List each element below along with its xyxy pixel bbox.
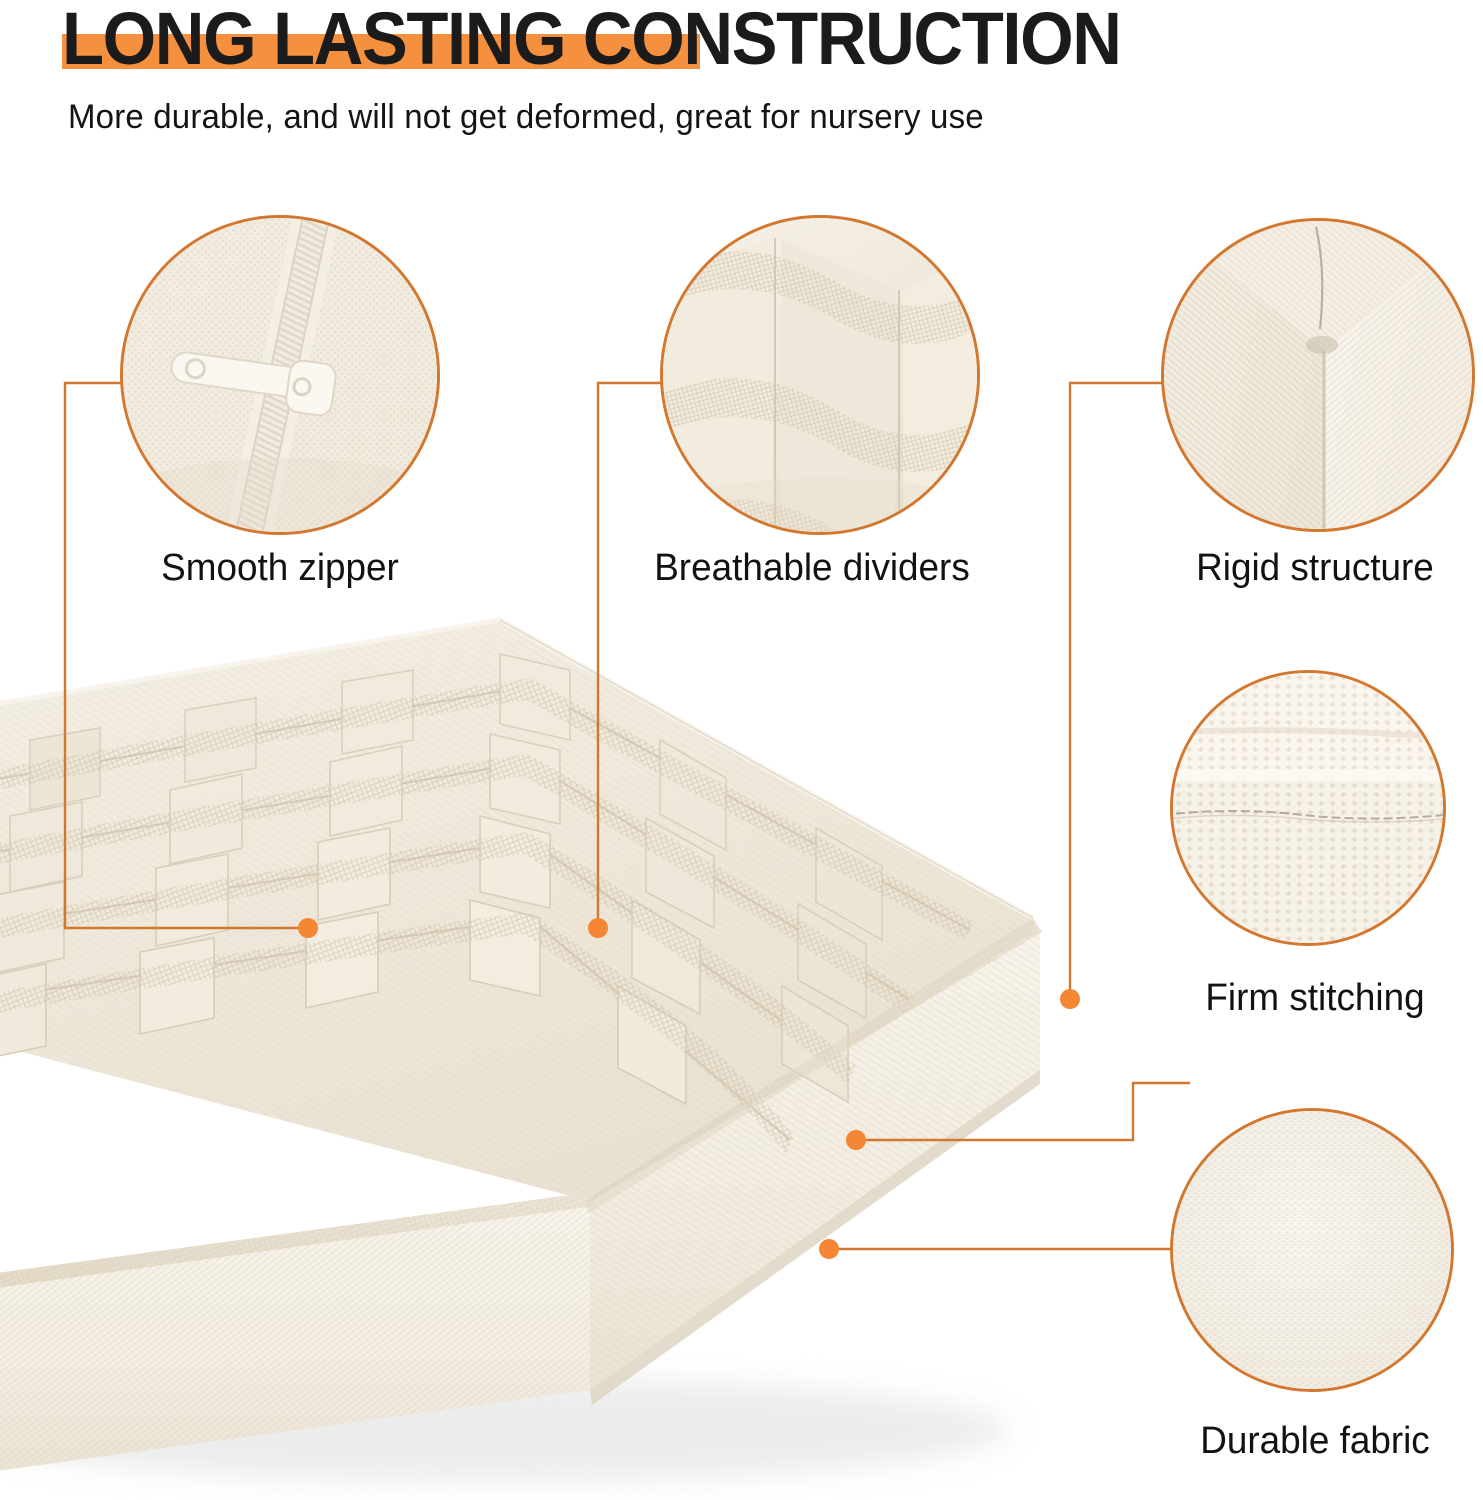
callout-label-rigid-structure: Rigid structure: [1121, 545, 1483, 591]
detail-circle-rigid-structure: [1161, 218, 1475, 532]
detail-circle-smooth-zipper: [120, 215, 440, 535]
detail-circle-firm-stitching: [1170, 670, 1446, 946]
infographic-canvas: LONG LASTING CONSTRUCTION More durable, …: [0, 0, 1483, 1500]
callout-label-durable-fabric: Durable fabric: [1131, 1418, 1483, 1464]
product-image: [0, 600, 1090, 1500]
detail-circle-durable-fabric: [1170, 1108, 1454, 1392]
callout-label-smooth-zipper: Smooth zipper: [86, 545, 474, 591]
detail-circle-breathable-dividers: [660, 215, 980, 535]
header: LONG LASTING CONSTRUCTION More durable, …: [0, 0, 1483, 160]
page-subtitle: More durable, and will not get deformed,…: [68, 96, 984, 138]
callout-label-firm-stitching: Firm stitching: [1131, 975, 1483, 1021]
page-title-wrap: LONG LASTING CONSTRUCTION: [62, 0, 1200, 80]
page-title: LONG LASTING CONSTRUCTION: [62, 0, 1121, 80]
callout-label-breathable-dividers: Breathable dividers: [599, 545, 1026, 591]
